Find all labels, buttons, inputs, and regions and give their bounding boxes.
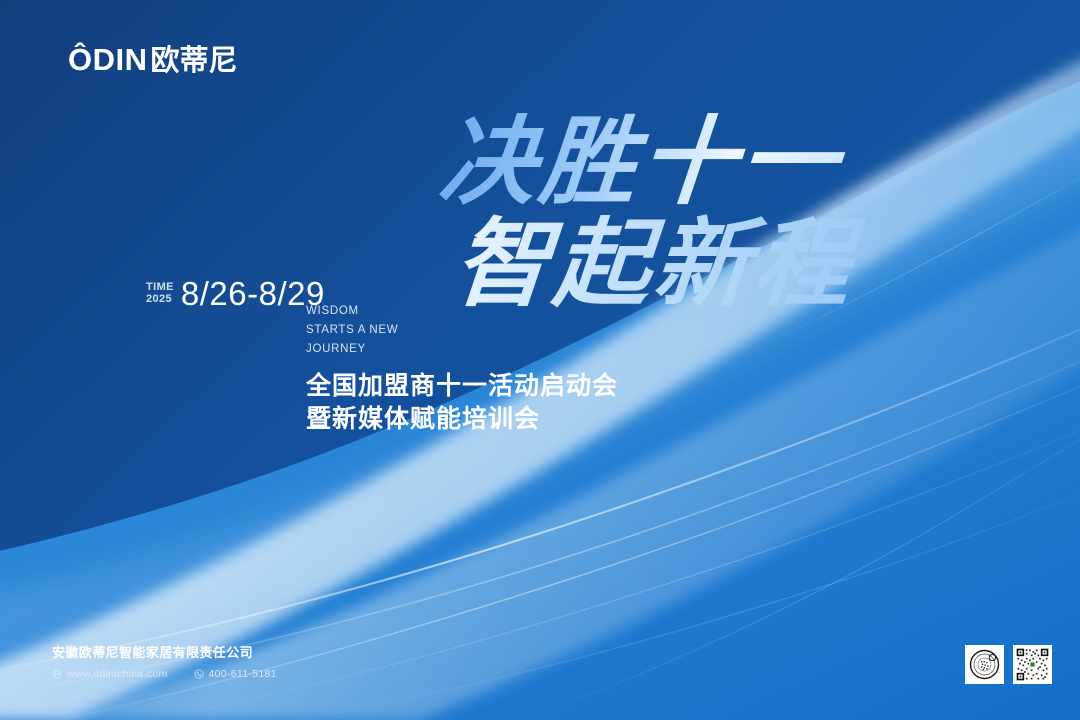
- globe-icon: [52, 669, 62, 679]
- qr-code-wechat-graphic: [1015, 647, 1050, 682]
- website-text: www.odinichina.com: [67, 668, 168, 680]
- event-date: TIME 2025 8/26-8/29: [146, 277, 325, 310]
- footer: 安徽欧蒂尼智能家居有限责任公司 www.odinichina.com 400-6…: [52, 645, 277, 680]
- headline-line-1: 决胜十一: [436, 112, 915, 214]
- qr-code-wechat[interactable]: [1013, 645, 1052, 684]
- qr-code-stamp[interactable]: [965, 645, 1004, 684]
- company-name: 安徽欧蒂尼智能家居有限责任公司: [52, 645, 277, 661]
- date-range: 8/26-8/29: [181, 277, 325, 310]
- date-label-year: 2025: [146, 293, 174, 306]
- subtitle-line-2: 暨新媒体赋能培训会: [306, 403, 618, 436]
- contact-website: www.odinichina.com: [52, 668, 168, 680]
- qr-code-stamp-graphic: [967, 647, 1002, 682]
- date-label-time: TIME: [146, 281, 174, 294]
- headline: 决胜十一 智起新程: [440, 112, 910, 316]
- date-label: TIME 2025: [146, 281, 174, 311]
- poster-canvas: ÔDIN 欧蒂尼 决胜十一 智起新程 TIME 2025 8/26-8/29 W…: [0, 0, 1080, 720]
- tagline-line-2: STARTS A NEW: [306, 321, 398, 340]
- qr-code-group: [965, 645, 1052, 684]
- tagline-line-3: JOURNEY: [306, 340, 398, 359]
- contact-phone: 400-611-5181: [194, 668, 277, 680]
- brand-logo-chinese: 欧蒂尼: [151, 47, 238, 76]
- brand-logo-latin: ÔDIN: [68, 44, 148, 75]
- english-tagline: WISDOM STARTS A NEW JOURNEY: [306, 302, 398, 359]
- background-artwork: [0, 0, 1080, 720]
- phone-icon: [194, 669, 204, 679]
- tagline-line-1: WISDOM: [306, 302, 398, 321]
- phone-text: 400-611-5181: [209, 668, 277, 680]
- event-subtitle: 全国加盟商十一活动启动会 暨新媒体赋能培训会: [306, 370, 618, 436]
- headline-line-2: 智起新程: [450, 214, 915, 316]
- subtitle-line-1: 全国加盟商十一活动启动会: [306, 370, 618, 403]
- brand-logo: ÔDIN 欧蒂尼: [68, 44, 238, 76]
- contact-row: www.odinichina.com 400-611-5181: [52, 668, 277, 680]
